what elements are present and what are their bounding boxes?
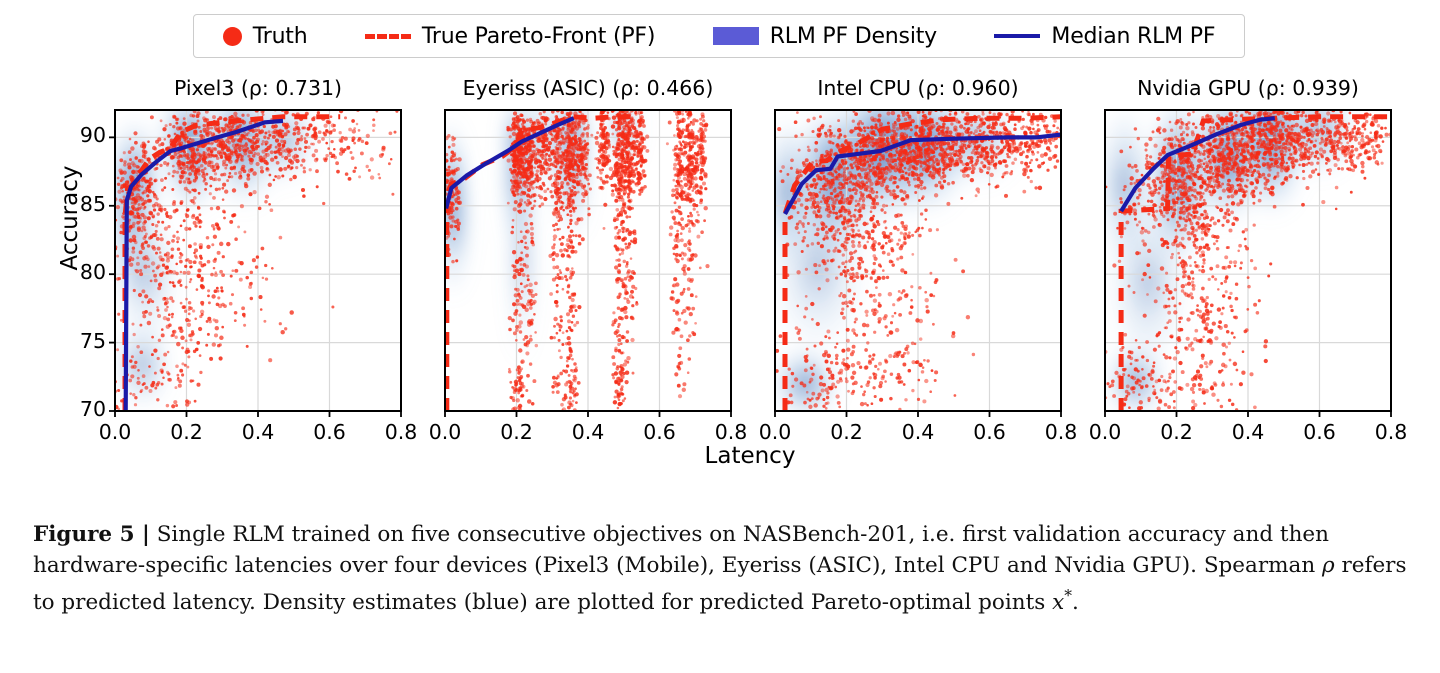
caption-star-symbol: * (1064, 587, 1072, 605)
panel-pixel3-xtick-1: 0.2 (155, 420, 219, 444)
panel-nvidia-gpu-title: Nvidia GPU (ρ: 0.939) (1105, 76, 1391, 100)
caption-line3a: GPU). Spearman (1132, 553, 1322, 578)
caption-x-symbol: x (1052, 590, 1064, 615)
panel-eyeriss-xtick-1: 0.2 (485, 420, 549, 444)
panel-intel-cpu-title: Intel CPU (ρ: 0.960) (775, 76, 1061, 100)
ytick-1: 75 (52, 329, 106, 353)
caption-line4a: points (978, 590, 1052, 615)
panel-pixel3-xtick-0: 0.0 (83, 420, 147, 444)
solid-line-icon (994, 34, 1040, 38)
legend-label: RLM PF Density (770, 24, 937, 49)
panel-pixel3-title: Pixel3 (ρ: 0.731) (115, 76, 401, 100)
legend-truth[interactable]: Truth (223, 24, 308, 49)
panel-eyeriss-title: Eyeriss (ASIC) (ρ: 0.466) (445, 76, 731, 100)
figure-caption: Figure 5 | Single RLM trained on five co… (33, 519, 1411, 618)
panel-nvidia-gpu-xtick-0: 0.0 (1073, 420, 1137, 444)
panel-intel-cpu (764, 84, 1063, 423)
panel-nvidia-gpu-xtick-2: 0.4 (1216, 420, 1280, 444)
x-axis-label: Latency (640, 443, 860, 469)
panel-intel-cpu-xtick-0: 0.0 (743, 420, 807, 444)
ytick-4: 90 (52, 123, 106, 147)
legend-label: Truth (253, 24, 308, 49)
panel-intel-cpu-xtick-2: 0.4 (886, 420, 950, 444)
panel-eyeriss-xtick-3: 0.6 (628, 420, 692, 444)
ytick-3: 85 (52, 192, 106, 216)
panel-eyeriss-xtick-2: 0.4 (556, 420, 620, 444)
panel-intel-cpu-xtick-1: 0.2 (815, 420, 879, 444)
legend-median-rlm-pf[interactable]: Median RLM PF (994, 24, 1215, 49)
caption-line4d: . (1072, 590, 1079, 615)
dashed-line-icon (365, 34, 411, 39)
legend-true-pf[interactable]: True Pareto-Front (PF) (365, 24, 655, 49)
panel-eyeriss (433, 84, 731, 417)
truth-dot-icon (223, 27, 242, 46)
density-patch-icon (713, 27, 759, 45)
ytick-0: 70 (52, 397, 106, 421)
panel-pixel3-xtick-2: 0.4 (226, 420, 290, 444)
ytick-2: 80 (52, 260, 106, 284)
caption-rho-symbol: ρ (1322, 553, 1335, 578)
panel-nvidia-gpu-xtick-4: 0.8 (1359, 420, 1423, 444)
panel-nvidia-gpu-xtick-1: 0.2 (1145, 420, 1209, 444)
panel-nvidia-gpu (1097, 78, 1392, 423)
figure-5: TruthTrue Pareto-Front (PF)RLM PF Densit… (0, 0, 1440, 500)
legend-label: True Pareto-Front (PF) (422, 24, 655, 49)
legend-label: Median RLM PF (1051, 24, 1215, 49)
panel-pixel3 (107, 87, 401, 417)
chart-legend: TruthTrue Pareto-Front (PF)RLM PF Densit… (193, 14, 1245, 58)
panel-eyeriss-xtick-0: 0.0 (413, 420, 477, 444)
caption-prefix: Figure 5 | (33, 522, 150, 547)
panel-nvidia-gpu-xtick-3: 0.6 (1288, 420, 1352, 444)
panel-intel-cpu-xtick-3: 0.6 (958, 420, 1022, 444)
panel-pixel3-xtick-3: 0.6 (298, 420, 362, 444)
legend-rlm-density[interactable]: RLM PF Density (713, 24, 937, 49)
caption-line1: Single RLM trained on five consecutive o… (150, 522, 1226, 547)
